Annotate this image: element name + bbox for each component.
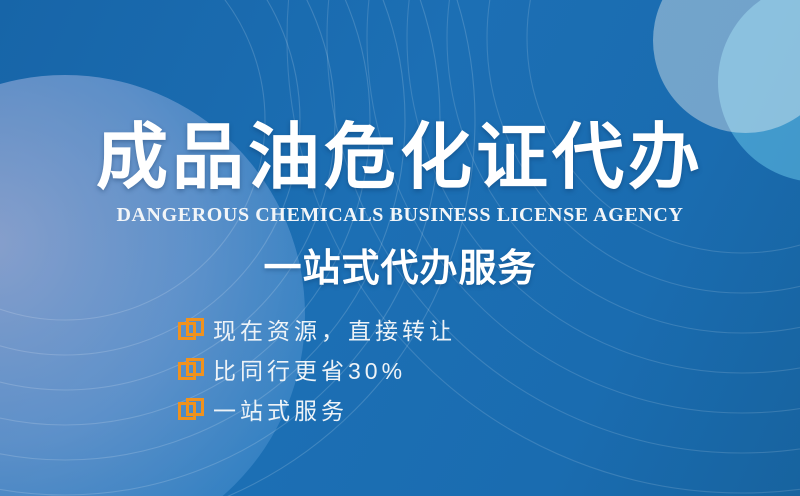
list-item: 比同行更省30% — [178, 356, 456, 386]
list-item: 现在资源，直接转让 — [178, 316, 456, 346]
list-item-label: 比同行更省30% — [213, 358, 406, 384]
list-item-label: 一站式服务 — [213, 398, 348, 424]
overlapping-squares-icon — [178, 358, 204, 384]
english-subtitle: DANGEROUS CHEMICALS BUSINESS LICENSE AGE… — [0, 203, 800, 227]
feature-list: 现在资源，直接转让 比同行更省30% 一站式服务 — [178, 316, 456, 426]
banner-content: 成品油危化证代办 DANGEROUS CHEMICALS BUSINESS LI… — [0, 0, 800, 496]
page-title: 成品油危化证代办 — [0, 118, 800, 198]
list-item-label: 现在资源，直接转让 — [213, 318, 456, 344]
overlapping-squares-icon — [178, 398, 204, 424]
chinese-subtitle: 一站式代办服务 — [0, 246, 800, 292]
list-item: 一站式服务 — [178, 396, 456, 426]
overlapping-squares-icon — [178, 318, 204, 344]
promo-banner: 成品油危化证代办 DANGEROUS CHEMICALS BUSINESS LI… — [0, 0, 800, 496]
